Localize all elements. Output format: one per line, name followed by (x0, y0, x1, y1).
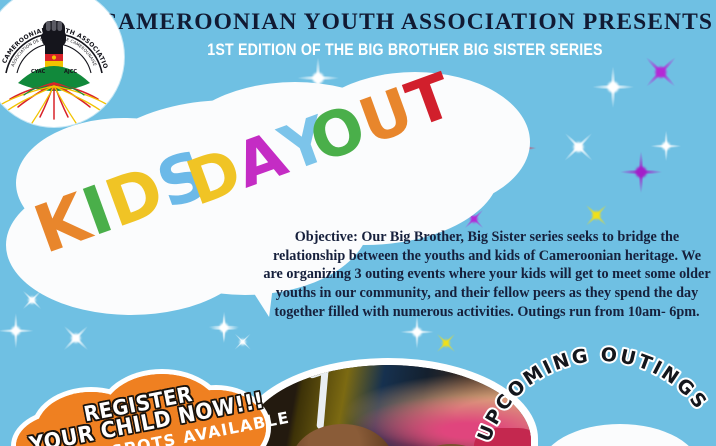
sparkle-core (636, 167, 647, 178)
sparkle-star-icon (428, 325, 465, 362)
sparkle-star-icon (208, 311, 239, 342)
sparkle-core (70, 332, 82, 344)
sparkle-core (313, 73, 324, 84)
sparkle-core (662, 142, 670, 150)
title-word-out: OUT (302, 64, 460, 172)
sparkle-core (220, 323, 228, 331)
sparkle-core (653, 64, 668, 79)
sparkle-star-icon (0, 313, 34, 349)
sparkle-core (591, 210, 601, 220)
sparkle-star-icon (550, 118, 605, 173)
sparkle-core (413, 328, 422, 337)
svg-text:AJCC: AJCC (64, 69, 77, 75)
event-photo (245, 365, 531, 446)
photo-pink-shape (474, 428, 531, 446)
sparkle-star-icon (650, 130, 681, 161)
header-organization-line: CAMEROONIAN YOUTH ASSOCIATION PRESENTS (100, 9, 710, 36)
sparkle-core (571, 139, 585, 153)
poster-canvas: KIDS DAY OUT CAMEROONIAN YOUTH ASSOCIATI… (0, 0, 716, 446)
sparkle-core (27, 295, 37, 305)
register-badge-text: REGISTER YOUR CHILD NOW!!! LIMITED SPOTS… (9, 343, 271, 446)
sparkle-core (220, 325, 227, 332)
sparkle-star-icon (620, 151, 662, 193)
sparkle-star-icon (52, 314, 100, 362)
sparkle-core (11, 326, 20, 335)
register-badge[interactable]: REGISTER YOUR CHILD NOW!!! LIMITED SPOTS… (16, 366, 264, 446)
event-photo-frame (238, 358, 538, 446)
svg-text:CYAC: CYAC (31, 69, 46, 75)
sparkle-core (608, 82, 619, 93)
header-edition-line: 1ST EDITION OF THE BIG BROTHER BIG SISTE… (143, 41, 668, 60)
objective-paragraph: Objective: Our Big Brother, Big Sister s… (262, 228, 712, 322)
upcoming-outings-circle (540, 424, 700, 446)
sparkle-star-icon (210, 315, 239, 344)
sparkle-star-icon (592, 66, 634, 108)
sparkle-core (441, 338, 451, 348)
